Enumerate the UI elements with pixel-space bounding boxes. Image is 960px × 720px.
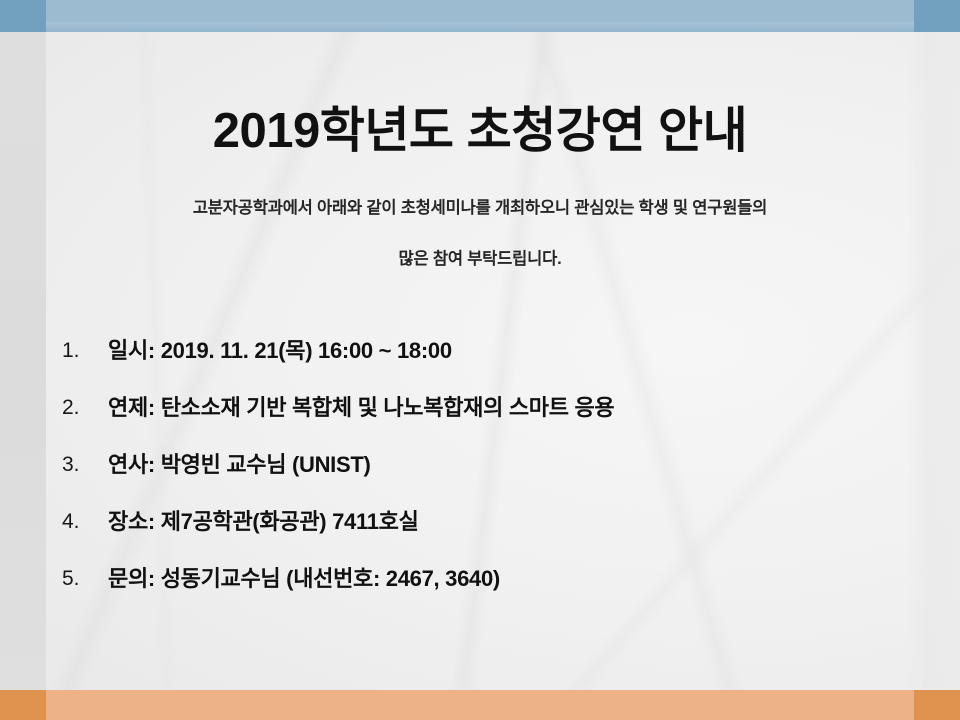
- top-band-right-cap: [914, 0, 960, 32]
- list-item: 5. 문의: 성동기교수님 (내선번호: 2467, 3640): [40, 565, 960, 622]
- page-title: 2019학년도 초청강연 안내: [0, 105, 960, 158]
- list-item-text: 일시: 2019. 11. 21(목) 16:00 ~ 18:00: [108, 337, 960, 365]
- list-item: 4. 장소: 제7공학관(화공관) 7411호실: [40, 508, 960, 565]
- agenda-list: 1. 일시: 2019. 11. 21(목) 16:00 ~ 18:00 2. …: [0, 337, 960, 622]
- list-item-text: 장소: 제7공학관(화공관) 7411호실: [108, 508, 960, 536]
- list-item-text: 연사: 박영빈 교수님 (UNIST): [108, 451, 960, 479]
- list-item-number: 4.: [40, 508, 108, 536]
- subtitle-line-1: 고분자공학과에서 아래와 같이 초청세미나를 개최하오니 관심있는 학생 및 연…: [60, 194, 900, 218]
- list-item-text: 연제: 탄소소재 기반 복합체 및 나노복합재의 스마트 응용: [108, 394, 960, 422]
- top-decorative-band: [0, 0, 960, 32]
- list-item: 2. 연제: 탄소소재 기반 복합체 및 나노복합재의 스마트 응용: [40, 394, 960, 451]
- top-band-sheen: [46, 22, 914, 32]
- list-item: 3. 연사: 박영빈 교수님 (UNIST): [40, 451, 960, 508]
- subtitle-line-2: 많은 참여 부탁드립니다.: [60, 245, 900, 269]
- list-item: 1. 일시: 2019. 11. 21(목) 16:00 ~ 18:00: [40, 337, 960, 394]
- bottom-band-left-cap: [0, 690, 46, 720]
- bottom-band-right-cap: [914, 690, 960, 720]
- top-band-left-cap: [0, 0, 46, 32]
- subtitle-paragraph: 고분자공학과에서 아래와 같이 초청세미나를 개최하오니 관심있는 학생 및 연…: [60, 194, 900, 269]
- list-item-number: 5.: [40, 565, 108, 593]
- list-item-number: 1.: [40, 337, 108, 365]
- bottom-decorative-band: [0, 690, 960, 720]
- list-item-text: 문의: 성동기교수님 (내선번호: 2467, 3640): [108, 565, 960, 593]
- list-item-number: 3.: [40, 451, 108, 479]
- list-item-number: 2.: [40, 394, 108, 422]
- slide-canvas: 2019학년도 초청강연 안내 고분자공학과에서 아래와 같이 초청세미나를 개…: [0, 0, 960, 720]
